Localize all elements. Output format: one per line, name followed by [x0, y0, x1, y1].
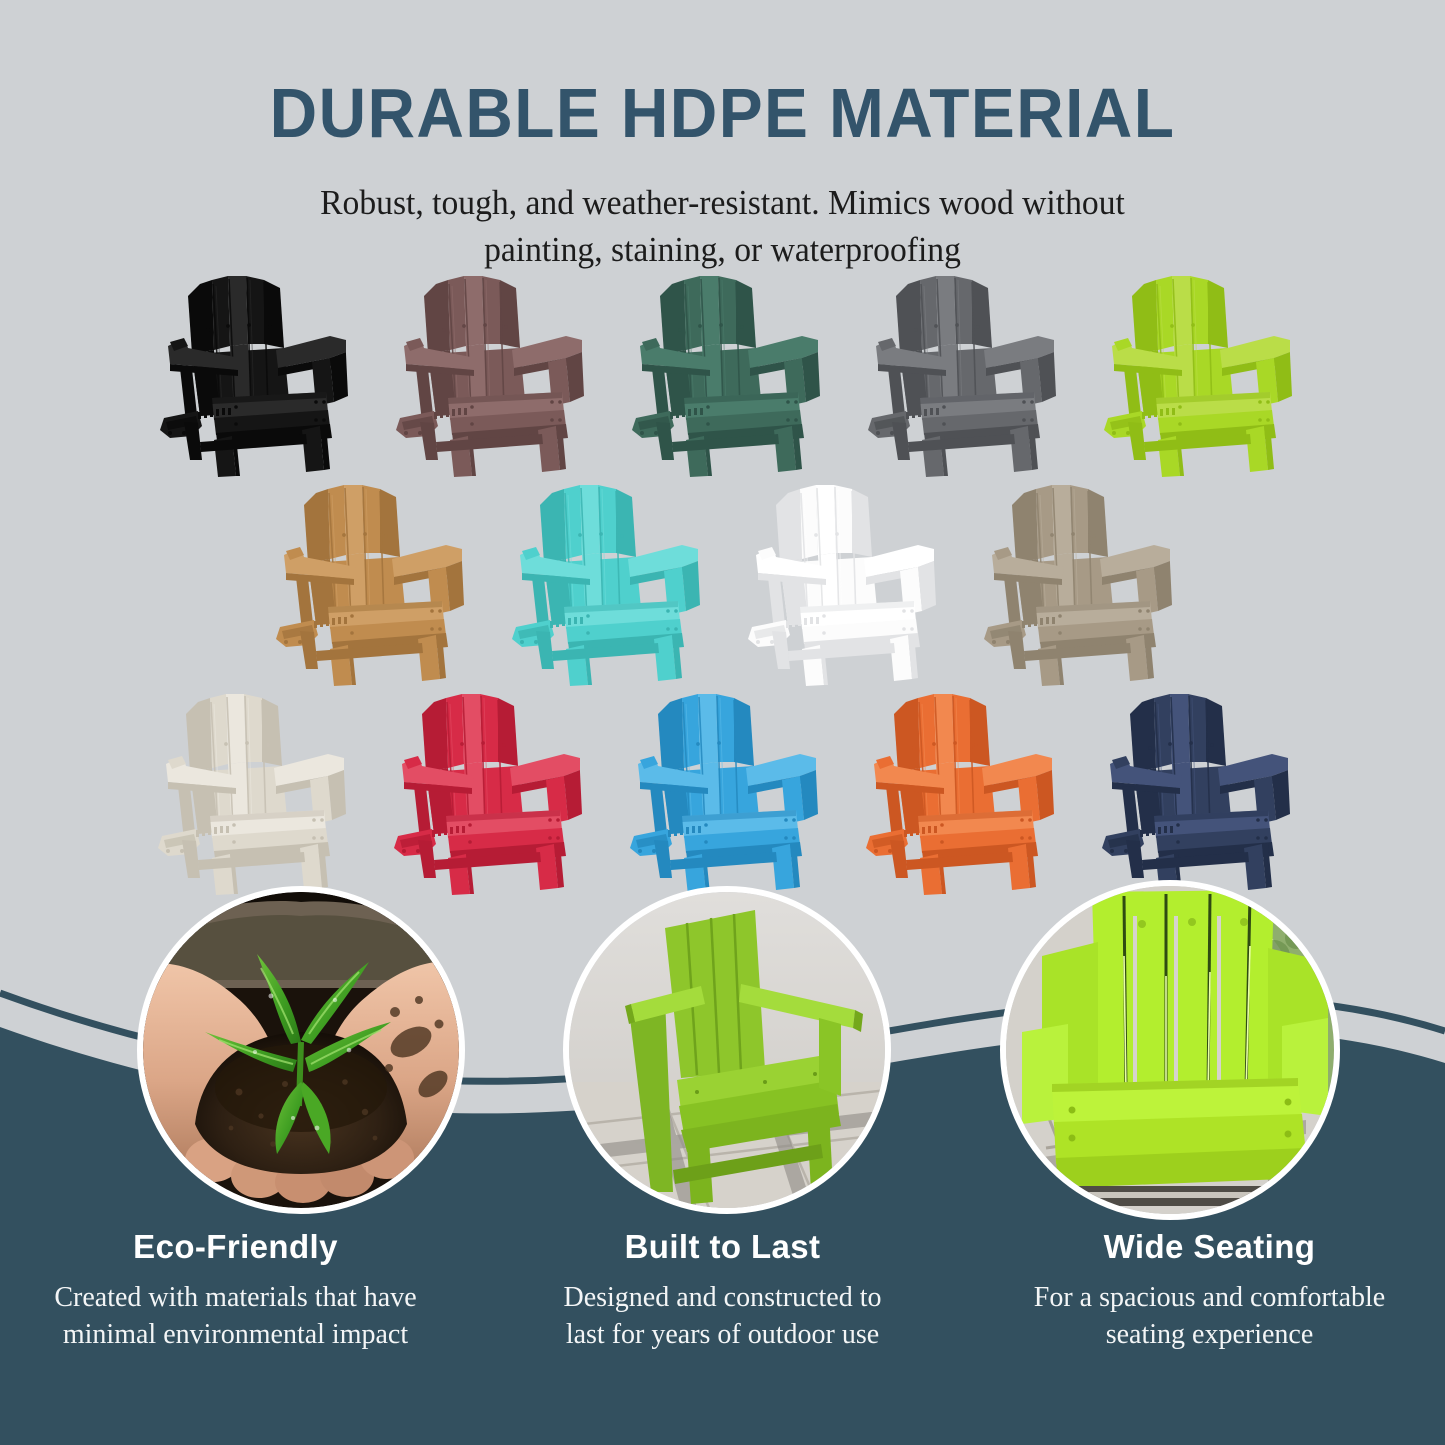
adirondack-chair-gray: [858, 272, 1064, 478]
feature-desc-line-1: Designed and constructed to: [563, 1282, 881, 1313]
feature-desc-line-2: last for years of outdoor use: [566, 1319, 879, 1350]
adirondack-chair-turquoise: [502, 481, 708, 687]
chair-swatch-teak[interactable]: [251, 481, 487, 690]
eco-photo: [137, 886, 465, 1214]
feature-row: Eco-Friendly Created with materials that…: [0, 1228, 1445, 1354]
infographic-page: DURABLE HDPE MATERIAL Robust, tough, and…: [0, 0, 1445, 1445]
chair-swatch-gray[interactable]: [843, 272, 1079, 481]
subtitle-line-2: painting, staining, or waterproofing: [484, 230, 961, 269]
chair-swatch-dark-green[interactable]: [607, 272, 843, 481]
adirondack-chair-dark-green: [622, 272, 828, 478]
header: DURABLE HDPE MATERIAL Robust, tough, and…: [0, 0, 1445, 274]
feature-description: Created with materials that have minimal…: [12, 1280, 459, 1354]
adirondack-chair-ivory: [148, 690, 354, 896]
chair-swatch-orange[interactable]: [841, 690, 1077, 899]
page-title: DURABLE HDPE MATERIAL: [43, 0, 1401, 148]
feature-desc-line-1: For a spacious and comfortable: [1034, 1282, 1385, 1313]
feature-built-to-last: Built to Last Designed and constructed t…: [493, 1228, 952, 1354]
chair-row-1: [0, 272, 1445, 481]
chair-swatch-ivory[interactable]: [133, 690, 369, 899]
subtitle-line-1: Robust, tough, and weather-resistant. Mi…: [320, 183, 1125, 222]
adirondack-chair-lime-green: [1094, 272, 1300, 478]
adirondack-chair-black: [150, 272, 356, 478]
page-subtitle: Robust, tough, and weather-resistant. Mi…: [29, 148, 1416, 274]
seat-photo: [1000, 880, 1340, 1220]
adirondack-chair-navy-blue: [1092, 690, 1298, 896]
chair-color-grid: [0, 272, 1445, 899]
feature-title: Wide Seating: [986, 1228, 1433, 1266]
chair-swatch-gray-wash[interactable]: [959, 481, 1195, 690]
adirondack-chair-brown: [386, 272, 592, 478]
feature-title: Built to Last: [499, 1228, 946, 1266]
adirondack-chair-blue: [620, 690, 826, 896]
feature-description: Designed and constructed to last for yea…: [499, 1280, 946, 1354]
chair-swatch-blue[interactable]: [605, 690, 841, 899]
chair-swatch-navy-blue[interactable]: [1077, 690, 1313, 899]
adirondack-chair-teak: [266, 481, 472, 687]
feature-desc-line-1: Created with materials that have: [54, 1282, 416, 1313]
chair-row-2: [0, 481, 1445, 690]
chair-swatch-lime-green[interactable]: [1079, 272, 1315, 481]
feature-desc-line-2: minimal environmental impact: [63, 1319, 408, 1350]
feature-desc-line-2: seating experience: [1106, 1319, 1314, 1350]
adirondack-chair-white: [738, 481, 944, 687]
feature-description: For a spacious and comfortable seating e…: [986, 1280, 1433, 1354]
adirondack-chair-orange: [856, 690, 1062, 896]
chair-row-3: [0, 690, 1445, 899]
chair-swatch-turquoise[interactable]: [487, 481, 723, 690]
chair-swatch-red[interactable]: [369, 690, 605, 899]
circle-photo-row: [0, 884, 1445, 1220]
feature-eco-friendly: Eco-Friendly Created with materials that…: [0, 1228, 493, 1354]
chair-swatch-black[interactable]: [135, 272, 371, 481]
feature-title: Eco-Friendly: [12, 1228, 459, 1266]
chair-swatch-white[interactable]: [723, 481, 959, 690]
adirondack-chair-red: [384, 690, 590, 896]
adirondack-chair-gray-wash: [974, 481, 1180, 687]
chair-photo: [563, 886, 891, 1214]
feature-wide-seating: Wide Seating For a spacious and comforta…: [952, 1228, 1445, 1354]
chair-swatch-brown[interactable]: [371, 272, 607, 481]
